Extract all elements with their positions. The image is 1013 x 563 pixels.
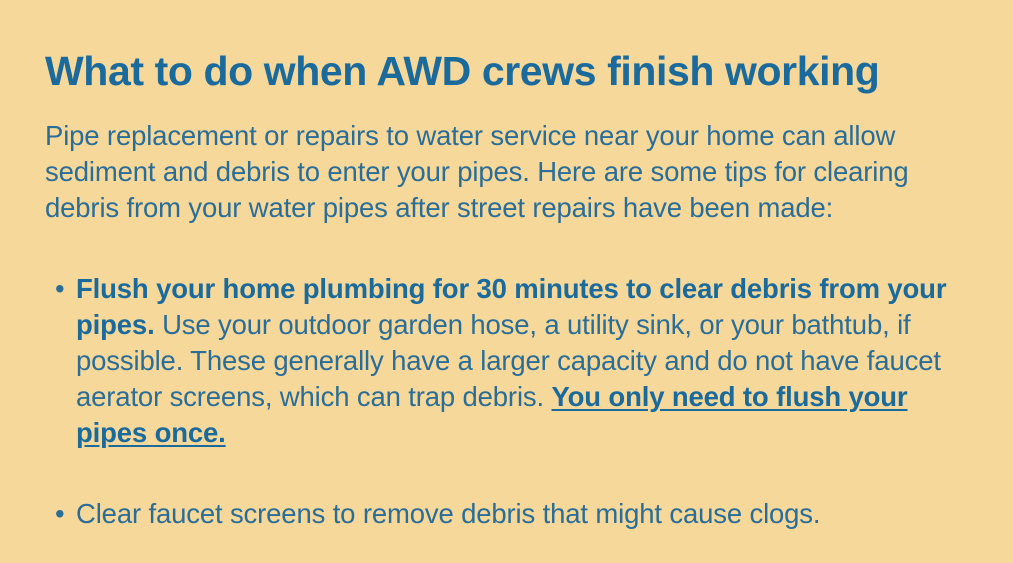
page-title: What to do when AWD crews finish working bbox=[45, 49, 975, 95]
bullet-dot-icon: • bbox=[55, 271, 64, 307]
bullet-body-text: Clear faucet screens to remove debris th… bbox=[76, 498, 820, 529]
list-item: • Clear faucet screens to remove debris … bbox=[45, 496, 970, 532]
list-item: • Flush your home plumbing for 30 minute… bbox=[45, 271, 970, 451]
slide-canvas: What to do when AWD crews finish working… bbox=[0, 0, 1013, 563]
intro-paragraph: Pipe replacement or repairs to water ser… bbox=[45, 118, 970, 226]
tips-bullet-list: • Flush your home plumbing for 30 minute… bbox=[45, 271, 970, 532]
bullet-dot-icon: • bbox=[55, 496, 64, 532]
slide-body: Pipe replacement or repairs to water ser… bbox=[45, 118, 970, 532]
